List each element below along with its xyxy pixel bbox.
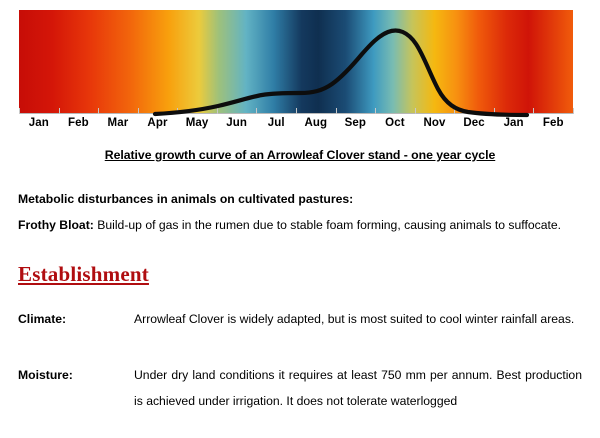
frothy-bloat-term: Frothy Bloat: [18, 218, 94, 232]
month-axis-labels: JanFebMarAprMayJunJulAugSepOctNovDecJanF… [19, 117, 573, 135]
month-label-jun-5: Jun [217, 117, 257, 129]
metabolic-disturbances-heading: Metabolic disturbances in animals on cul… [18, 186, 582, 212]
chart-caption: Relative growth curve of an Arrowleaf Cl… [0, 148, 600, 162]
moisture-description: Under dry land conditions it requires at… [134, 362, 582, 414]
month-label-jul-6: Jul [256, 117, 296, 129]
moisture-term: Moisture: [18, 362, 134, 388]
month-label-may-4: May [177, 117, 217, 129]
growth-curve-figure: JanFebMarAprMayJunJulAugSepOctNovDecJanF… [0, 0, 600, 140]
month-label-apr-3: Apr [138, 117, 178, 129]
month-label-feb-1: Feb [59, 117, 99, 129]
month-label-aug-7: Aug [296, 117, 336, 129]
month-label-jan-0: Jan [19, 117, 59, 129]
month-label-mar-2: Mar [98, 117, 138, 129]
climate-term: Climate: [18, 306, 134, 332]
document-body: Metabolic disturbances in animals on cul… [18, 186, 582, 238]
month-label-jan-12: Jan [494, 117, 534, 129]
month-label-feb-13: Feb [533, 117, 573, 129]
month-label-sep-8: Sep [336, 117, 376, 129]
metabolic-heading-text: Metabolic disturbances in animals on cul… [18, 192, 353, 206]
month-label-dec-11: Dec [454, 117, 494, 129]
frothy-bloat-description: Build-up of gas in the rumen due to stab… [94, 218, 561, 232]
definition-row-moisture: Moisture: Under dry land conditions it r… [18, 362, 582, 414]
month-label-oct-9: Oct [375, 117, 415, 129]
climate-description: Arrowleaf Clover is widely adapted, but … [134, 306, 582, 332]
establishment-section-heading: Establishment [18, 262, 149, 287]
definition-row-climate: Climate: Arrowleaf Clover is widely adap… [18, 306, 582, 332]
month-label-nov-10: Nov [415, 117, 455, 129]
frothy-bloat-paragraph: Frothy Bloat: Build-up of gas in the rum… [18, 212, 582, 238]
